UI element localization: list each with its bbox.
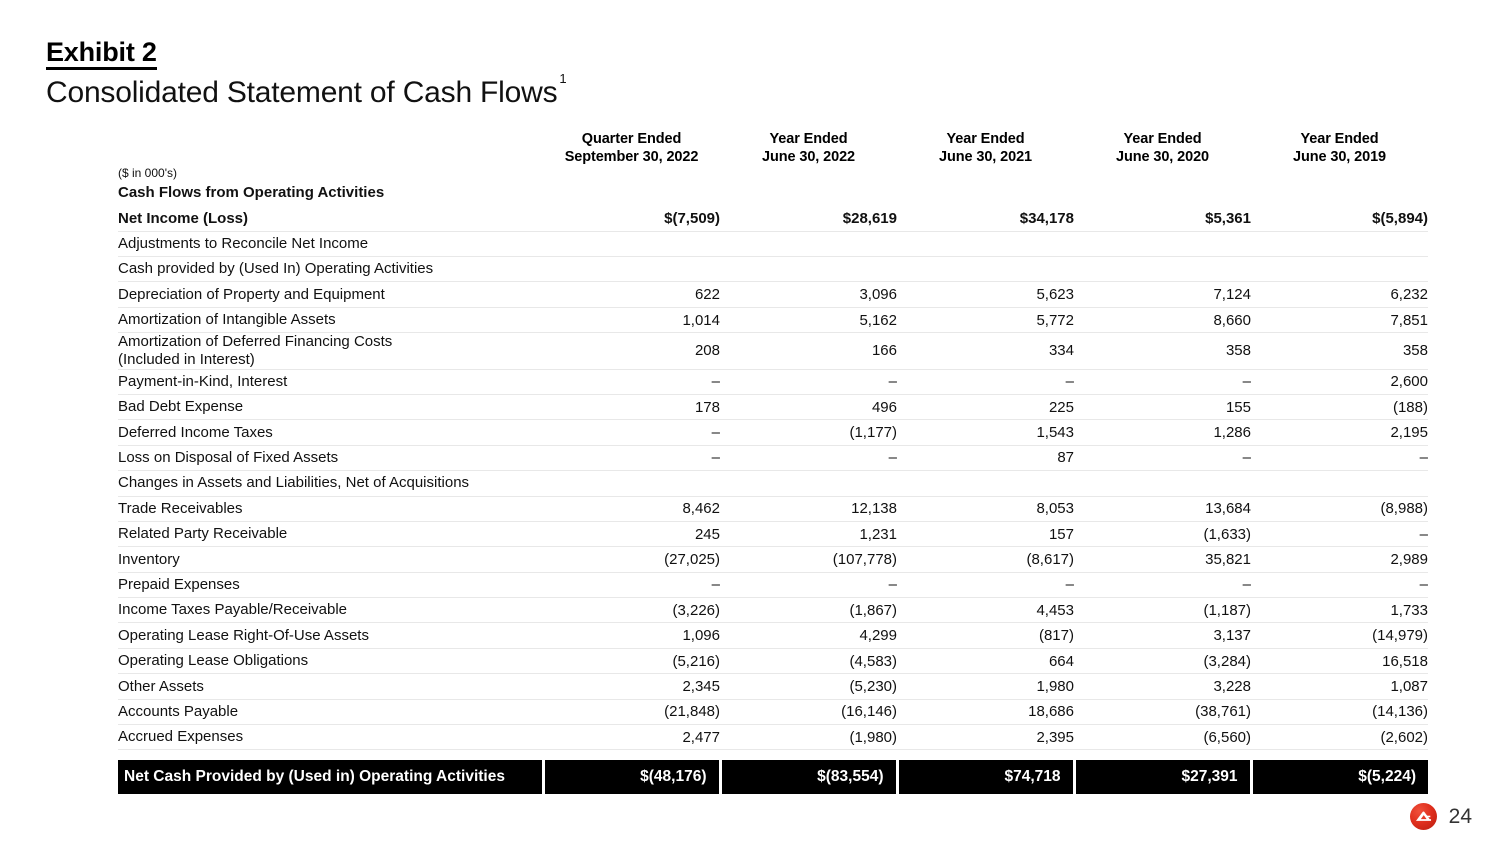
row-value: 664 bbox=[897, 648, 1074, 673]
row-value: 157 bbox=[897, 521, 1074, 546]
row-label: Other Assets bbox=[118, 674, 543, 699]
row-value: (5,216) bbox=[543, 648, 720, 673]
column-header-line1: Year Ended bbox=[897, 130, 1074, 148]
row-value: 12,138 bbox=[720, 496, 897, 521]
cash-flow-table: Quarter Ended September 30, 2022 Year En… bbox=[118, 130, 1428, 797]
row-value bbox=[897, 471, 1074, 496]
table-row: Operating Lease Obligations(5,216)(4,583… bbox=[118, 648, 1428, 673]
row-value: 4,299 bbox=[720, 623, 897, 648]
row-value: 2,195 bbox=[1251, 420, 1428, 445]
row-value bbox=[720, 257, 897, 282]
row-value: 7,124 bbox=[1074, 282, 1251, 307]
row-value: – bbox=[1251, 521, 1428, 546]
row-value: – bbox=[720, 572, 897, 597]
total-row: Net Cash Provided by (Used in) Operating… bbox=[118, 758, 1428, 796]
row-value: – bbox=[1251, 572, 1428, 597]
row-label: Cash provided by (Used In) Operating Act… bbox=[118, 257, 543, 282]
row-label: Accounts Payable bbox=[118, 699, 543, 724]
row-value: 8,053 bbox=[897, 496, 1074, 521]
column-header-line2: September 30, 2022 bbox=[543, 148, 720, 166]
table-row: Net Income (Loss)$(7,509)$28,619$34,178$… bbox=[118, 206, 1428, 231]
row-value: (1,187) bbox=[1074, 598, 1251, 623]
row-value: (1,633) bbox=[1074, 521, 1251, 546]
table-row: Operating Lease Right-Of-Use Assets1,096… bbox=[118, 623, 1428, 648]
column-header-line1: Year Ended bbox=[720, 130, 897, 148]
row-value: 5,772 bbox=[897, 307, 1074, 332]
row-value: – bbox=[1074, 572, 1251, 597]
total-row-value: $(83,554) bbox=[720, 758, 897, 796]
units-label: ($ in 000's) bbox=[118, 166, 1428, 180]
row-value: 358 bbox=[1074, 333, 1251, 369]
row-label: Accrued Expenses bbox=[118, 725, 543, 750]
row-value: (8,988) bbox=[1251, 496, 1428, 521]
units-row: ($ in 000's) bbox=[118, 166, 1428, 180]
row-value: 208 bbox=[543, 333, 720, 369]
total-row-value: $27,391 bbox=[1074, 758, 1251, 796]
column-header-fy2021: Year Ended June 30, 2021 bbox=[897, 130, 1074, 166]
row-value: (38,761) bbox=[1074, 699, 1251, 724]
row-value: 5,162 bbox=[720, 307, 897, 332]
row-label: Net Income (Loss) bbox=[118, 206, 543, 231]
row-value: 1,231 bbox=[720, 521, 897, 546]
row-value: (2,602) bbox=[1251, 725, 1428, 750]
row-value bbox=[720, 471, 897, 496]
column-header-label bbox=[118, 130, 543, 166]
row-value: 87 bbox=[897, 445, 1074, 470]
table-row: Other Assets2,345(5,230)1,9803,2281,087 bbox=[118, 674, 1428, 699]
row-value: 4,453 bbox=[897, 598, 1074, 623]
total-row-value: $(5,224) bbox=[1251, 758, 1428, 796]
row-value: – bbox=[897, 369, 1074, 394]
row-value: – bbox=[897, 572, 1074, 597]
row-value: 225 bbox=[897, 394, 1074, 419]
row-value: 1,096 bbox=[543, 623, 720, 648]
row-value: (1,980) bbox=[720, 725, 897, 750]
row-value: 358 bbox=[1251, 333, 1428, 369]
table-header-row: Quarter Ended September 30, 2022 Year En… bbox=[118, 130, 1428, 166]
row-value: 3,137 bbox=[1074, 623, 1251, 648]
row-value: 334 bbox=[897, 333, 1074, 369]
row-value: 622 bbox=[543, 282, 720, 307]
table-row: Deferred Income Taxes–(1,177)1,5431,2862… bbox=[118, 420, 1428, 445]
row-value: – bbox=[543, 420, 720, 445]
row-value: (107,778) bbox=[720, 547, 897, 572]
row-value bbox=[720, 231, 897, 256]
section-heading: Cash Flows from Operating Activities bbox=[118, 180, 1428, 206]
table-body: Net Income (Loss)$(7,509)$28,619$34,178$… bbox=[118, 206, 1428, 796]
row-value bbox=[1251, 231, 1428, 256]
row-value: 5,623 bbox=[897, 282, 1074, 307]
row-value: (5,230) bbox=[720, 674, 897, 699]
total-row-label: Net Cash Provided by (Used in) Operating… bbox=[118, 758, 543, 796]
total-row-value: $(48,176) bbox=[543, 758, 720, 796]
row-label: Prepaid Expenses bbox=[118, 572, 543, 597]
table-row: Amortization of Intangible Assets1,0145,… bbox=[118, 307, 1428, 332]
table-row: Related Party Receivable2451,231157(1,63… bbox=[118, 521, 1428, 546]
row-label: Operating Lease Right-Of-Use Assets bbox=[118, 623, 543, 648]
row-value: $(5,894) bbox=[1251, 206, 1428, 231]
page-title-text: Consolidated Statement of Cash Flows bbox=[46, 76, 557, 109]
column-header-fy2019: Year Ended June 30, 2019 bbox=[1251, 130, 1428, 166]
row-value: – bbox=[720, 369, 897, 394]
row-value: – bbox=[543, 445, 720, 470]
column-header-line2: June 30, 2020 bbox=[1074, 148, 1251, 166]
row-value: 2,989 bbox=[1251, 547, 1428, 572]
row-label: Amortization of Deferred Financing Costs… bbox=[118, 333, 543, 369]
row-value: 496 bbox=[720, 394, 897, 419]
row-value bbox=[1251, 471, 1428, 496]
row-value: 3,096 bbox=[720, 282, 897, 307]
row-value: 1,286 bbox=[1074, 420, 1251, 445]
row-value: 155 bbox=[1074, 394, 1251, 419]
column-header-line1: Quarter Ended bbox=[543, 130, 720, 148]
page-title: Consolidated Statement of Cash Flows1 bbox=[46, 77, 564, 109]
table-row: Bad Debt Expense178496225155(188) bbox=[118, 394, 1428, 419]
column-header-line2: June 30, 2019 bbox=[1251, 148, 1428, 166]
slide-footer: 24 bbox=[1410, 803, 1472, 830]
column-header-line1: Year Ended bbox=[1074, 130, 1251, 148]
row-label: Deferred Income Taxes bbox=[118, 420, 543, 445]
table-row: Accounts Payable(21,848)(16,146)18,686(3… bbox=[118, 699, 1428, 724]
table-row: Prepaid Expenses––––– bbox=[118, 572, 1428, 597]
row-value: 13,684 bbox=[1074, 496, 1251, 521]
row-value: 8,660 bbox=[1074, 307, 1251, 332]
row-value: $28,619 bbox=[720, 206, 897, 231]
row-value bbox=[543, 471, 720, 496]
table-row: Inventory(27,025)(107,778)(8,617)35,8212… bbox=[118, 547, 1428, 572]
row-value: (1,867) bbox=[720, 598, 897, 623]
row-label: Operating Lease Obligations bbox=[118, 648, 543, 673]
row-value: (14,136) bbox=[1251, 699, 1428, 724]
table-row: Changes in Assets and Liabilities, Net o… bbox=[118, 471, 1428, 496]
row-value: 16,518 bbox=[1251, 648, 1428, 673]
footnote-marker: 1 bbox=[559, 71, 566, 86]
cash-flow-table-container: Quarter Ended September 30, 2022 Year En… bbox=[118, 130, 1428, 797]
row-value bbox=[1074, 257, 1251, 282]
row-value: 1,980 bbox=[897, 674, 1074, 699]
column-header-fy2020: Year Ended June 30, 2020 bbox=[1074, 130, 1251, 166]
row-value: – bbox=[1074, 369, 1251, 394]
row-value: – bbox=[720, 445, 897, 470]
row-value: 2,477 bbox=[543, 725, 720, 750]
row-value: (6,560) bbox=[1074, 725, 1251, 750]
row-value bbox=[1251, 257, 1428, 282]
table-row: Payment-in-Kind, Interest––––2,600 bbox=[118, 369, 1428, 394]
row-label: Inventory bbox=[118, 547, 543, 572]
table-header: Quarter Ended September 30, 2022 Year En… bbox=[118, 130, 1428, 206]
row-label: Related Party Receivable bbox=[118, 521, 543, 546]
row-label: Income Taxes Payable/Receivable bbox=[118, 598, 543, 623]
row-label: Adjustments to Reconcile Net Income bbox=[118, 231, 543, 256]
table-row: Amortization of Deferred Financing Costs… bbox=[118, 333, 1428, 369]
row-value: 35,821 bbox=[1074, 547, 1251, 572]
row-value: (8,617) bbox=[897, 547, 1074, 572]
row-value: 2,600 bbox=[1251, 369, 1428, 394]
table-spacer bbox=[118, 750, 1428, 759]
row-value: 2,395 bbox=[897, 725, 1074, 750]
row-label: Changes in Assets and Liabilities, Net o… bbox=[118, 471, 543, 496]
row-value: 8,462 bbox=[543, 496, 720, 521]
row-value bbox=[1074, 231, 1251, 256]
row-value: 7,851 bbox=[1251, 307, 1428, 332]
table-row: Trade Receivables8,46212,1388,05313,684(… bbox=[118, 496, 1428, 521]
row-label: Payment-in-Kind, Interest bbox=[118, 369, 543, 394]
table-row: Adjustments to Reconcile Net Income bbox=[118, 231, 1428, 256]
row-value: 1,733 bbox=[1251, 598, 1428, 623]
row-value: $34,178 bbox=[897, 206, 1074, 231]
row-value bbox=[897, 257, 1074, 282]
row-value: – bbox=[543, 572, 720, 597]
row-label: Trade Receivables bbox=[118, 496, 543, 521]
column-header-fy2022: Year Ended June 30, 2022 bbox=[720, 130, 897, 166]
row-value: 166 bbox=[720, 333, 897, 369]
row-value: 245 bbox=[543, 521, 720, 546]
page-number: 24 bbox=[1449, 805, 1472, 829]
row-value bbox=[897, 231, 1074, 256]
row-value: (817) bbox=[897, 623, 1074, 648]
row-value: (4,583) bbox=[720, 648, 897, 673]
row-value: 178 bbox=[543, 394, 720, 419]
table-row: Accrued Expenses2,477(1,980)2,395(6,560)… bbox=[118, 725, 1428, 750]
row-value bbox=[543, 257, 720, 282]
row-value: (27,025) bbox=[543, 547, 720, 572]
spacer-cell bbox=[118, 750, 1428, 759]
company-logo-icon bbox=[1410, 803, 1437, 830]
row-value: (3,284) bbox=[1074, 648, 1251, 673]
row-value: $(7,509) bbox=[543, 206, 720, 231]
row-value: 1,087 bbox=[1251, 674, 1428, 699]
total-row-value: $74,718 bbox=[897, 758, 1074, 796]
row-label: Bad Debt Expense bbox=[118, 394, 543, 419]
table-row: Cash provided by (Used In) Operating Act… bbox=[118, 257, 1428, 282]
column-header-line2: June 30, 2022 bbox=[720, 148, 897, 166]
row-label: Amortization of Intangible Assets bbox=[118, 307, 543, 332]
row-value: (21,848) bbox=[543, 699, 720, 724]
row-value: 1,014 bbox=[543, 307, 720, 332]
section-heading-row: Cash Flows from Operating Activities bbox=[118, 180, 1428, 206]
row-label: Loss on Disposal of Fixed Assets bbox=[118, 445, 543, 470]
row-value: $5,361 bbox=[1074, 206, 1251, 231]
row-value: (14,979) bbox=[1251, 623, 1428, 648]
table-row: Loss on Disposal of Fixed Assets––87–– bbox=[118, 445, 1428, 470]
column-header-line2: June 30, 2021 bbox=[897, 148, 1074, 166]
row-value: (16,146) bbox=[720, 699, 897, 724]
row-value: (188) bbox=[1251, 394, 1428, 419]
row-value bbox=[543, 231, 720, 256]
row-value: – bbox=[1251, 445, 1428, 470]
row-value: 18,686 bbox=[897, 699, 1074, 724]
row-value: – bbox=[543, 369, 720, 394]
row-label: Depreciation of Property and Equipment bbox=[118, 282, 543, 307]
exhibit-label: Exhibit 2 bbox=[46, 38, 157, 70]
column-header-line1: Year Ended bbox=[1251, 130, 1428, 148]
row-value: – bbox=[1074, 445, 1251, 470]
row-value: 1,543 bbox=[897, 420, 1074, 445]
row-value bbox=[1074, 471, 1251, 496]
row-value: (3,226) bbox=[543, 598, 720, 623]
row-value: 3,228 bbox=[1074, 674, 1251, 699]
title-block: Exhibit 2 Consolidated Statement of Cash… bbox=[46, 38, 564, 109]
row-value: (1,177) bbox=[720, 420, 897, 445]
table-row: Income Taxes Payable/Receivable(3,226)(1… bbox=[118, 598, 1428, 623]
table-row: Depreciation of Property and Equipment62… bbox=[118, 282, 1428, 307]
column-header-q1-fy23: Quarter Ended September 30, 2022 bbox=[543, 130, 720, 166]
row-value: 6,232 bbox=[1251, 282, 1428, 307]
row-value: 2,345 bbox=[543, 674, 720, 699]
